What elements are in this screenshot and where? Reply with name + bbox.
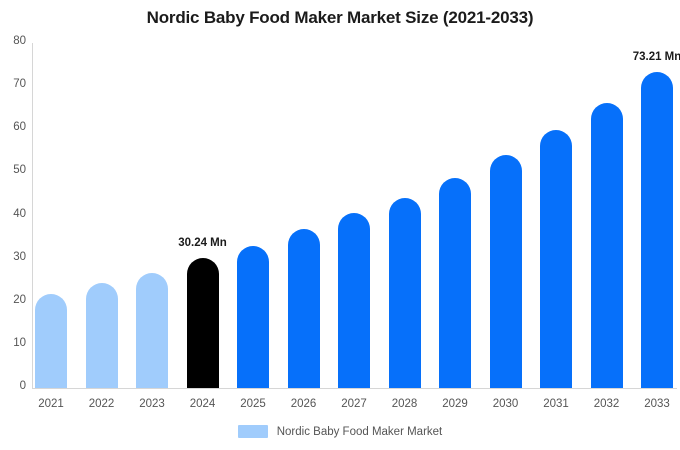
- x-axis-tick-2028: 2028: [382, 398, 428, 410]
- bar-series: 30.24 Mn73.21 Mn: [0, 0, 680, 450]
- bar-2023[interactable]: [136, 273, 168, 388]
- bar-2031[interactable]: [540, 130, 572, 388]
- bar-2025[interactable]: [237, 246, 269, 388]
- bar-2021[interactable]: [35, 294, 67, 388]
- bar-2024[interactable]: [187, 258, 219, 388]
- legend-label-0[interactable]: Nordic Baby Food Maker Market: [277, 426, 443, 438]
- x-axis-tick-2033: 2033: [634, 398, 680, 410]
- x-axis-tick-2030: 2030: [483, 398, 529, 410]
- x-axis-tick-2024: 2024: [180, 398, 226, 410]
- bar-2030[interactable]: [490, 155, 522, 388]
- chart-legend: Nordic Baby Food Maker Market: [0, 425, 680, 438]
- plot-area: 01020304050607080 30.24 Mn73.21 Mn 20212…: [0, 0, 680, 450]
- x-axis-tick-2023: 2023: [129, 398, 175, 410]
- bar-2028[interactable]: [389, 198, 421, 388]
- bar-2033[interactable]: [641, 72, 673, 388]
- x-axis-tick-2031: 2031: [533, 398, 579, 410]
- bar-value-label-2024: 30.24 Mn: [158, 237, 248, 249]
- legend-swatch-0: [238, 425, 268, 438]
- bar-value-label-2033: 73.21 Mn: [612, 51, 680, 63]
- x-axis-tick-2025: 2025: [230, 398, 276, 410]
- bar-2029[interactable]: [439, 178, 471, 388]
- x-axis-tick-2029: 2029: [432, 398, 478, 410]
- bar-2032[interactable]: [591, 103, 623, 388]
- chart-container: Nordic Baby Food Maker Market Size (2021…: [0, 0, 680, 450]
- bar-2026[interactable]: [288, 229, 320, 388]
- x-axis-tick-2021: 2021: [28, 398, 74, 410]
- x-axis-tick-2022: 2022: [79, 398, 125, 410]
- x-axis-tick-2027: 2027: [331, 398, 377, 410]
- bar-2027[interactable]: [338, 213, 370, 388]
- bar-2022[interactable]: [86, 283, 118, 388]
- x-axis-tick-2032: 2032: [584, 398, 630, 410]
- x-axis-tick-2026: 2026: [281, 398, 327, 410]
